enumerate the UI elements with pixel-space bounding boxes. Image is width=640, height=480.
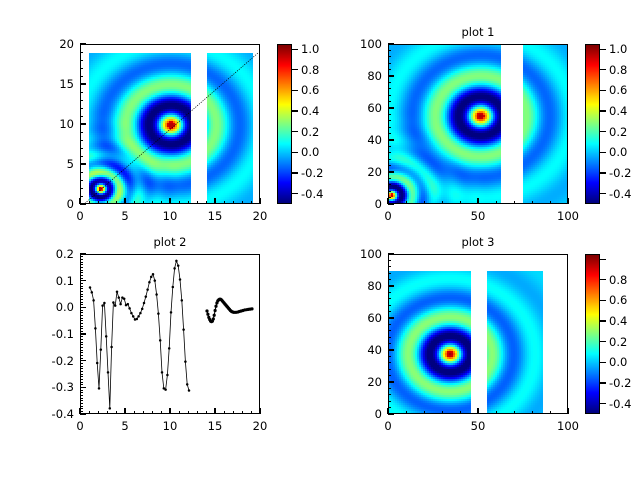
x-tick-label: 20 [238,210,282,222]
y-minor-tick [388,133,391,134]
y-minor-tick [80,339,83,340]
data-point-marker [184,360,187,363]
data-point-marker [170,311,173,314]
y-minor-tick [80,108,83,109]
y-minor-tick [80,259,83,260]
y-minor-tick [388,204,391,205]
x-minor-tick [170,201,171,204]
data-point-marker [96,362,99,365]
y-minor-tick [388,382,391,383]
y-minor-tick [80,334,83,335]
x-tick-label: 0 [366,210,410,222]
y-minor-tick [80,116,83,117]
colorbar-tick-label: 0.0 [301,146,343,158]
data-point-marker [205,309,208,312]
y-minor-tick [80,262,83,263]
y-minor-tick [388,159,391,160]
data-point-marker [101,304,104,307]
y-minor-tick [388,260,391,261]
y-minor-tick [80,60,83,61]
x-tick-label: 0 [366,420,410,432]
y-minor-tick [80,331,83,332]
data-point-marker [128,307,131,310]
x-minor-tick [550,201,551,204]
data-point-marker [179,278,182,281]
data-point-marker [139,312,142,315]
data-point-marker [159,339,162,342]
y-minor-tick [80,267,83,268]
colorbar-tick [600,362,606,363]
x-tick-label: 50 [456,210,500,222]
y-minor-tick [388,292,391,293]
x-minor-tick [406,411,407,414]
y-minor-tick [80,406,83,407]
y-minor-tick [388,273,391,274]
y-minor-tick [80,315,83,316]
colorbar-tick [600,382,606,383]
y-minor-tick [80,92,83,93]
data-point-marker [250,307,253,310]
data-point-marker [206,313,209,316]
y-minor-tick [388,330,391,331]
data-point-marker [116,291,119,294]
colorbar-tick [292,90,298,91]
y-minor-tick [80,100,83,101]
x-minor-tick [143,201,144,204]
heatmap-image-bottom [389,255,567,413]
y-tick-label: 0.1 [32,275,74,287]
colorbar-tick [600,279,606,280]
y-minor-tick [388,298,391,299]
y-minor-tick [388,394,391,395]
y-tick-label: 60 [340,102,382,114]
y-tick-label: 0 [340,408,382,420]
colorbar-tick [292,49,298,50]
data-point-marker [143,302,146,305]
colorbar-tick-label: -0.2 [609,377,640,389]
y-minor-tick [80,326,83,327]
y-minor-tick [388,337,391,338]
x-minor-tick [550,411,551,414]
y-minor-tick [388,114,391,115]
x-tick-label: 5 [103,210,147,222]
y-minor-tick [80,328,83,329]
y-minor-tick [388,286,391,287]
y-minor-tick [80,336,83,337]
y-minor-tick [80,376,83,377]
y-tick-label: 60 [340,312,382,324]
y-tick-label: 20 [340,376,382,388]
y-minor-tick [80,411,83,412]
y-tick-label: -0.3 [32,381,74,393]
figure-canvas: 0510152005101520 1.00.80.60.40.20.0-0.2-… [0,0,640,480]
data-point-marker [145,295,148,298]
x-tick-label: 5 [103,420,147,432]
y-minor-tick [388,178,391,179]
x-minor-tick [478,201,479,204]
y-minor-tick [80,296,83,297]
panel-top-right-title: plot 1 [388,26,568,39]
data-point-marker [92,299,95,302]
colorbar-tick-label: 0.2 [609,126,640,138]
x-tick-label: 15 [193,210,237,222]
y-minor-tick [388,197,391,198]
data-point-marker [181,299,184,302]
y-minor-tick [388,165,391,166]
x-minor-tick [496,201,497,204]
data-point-marker [112,301,115,304]
y-minor-tick [388,101,391,102]
x-minor-tick [568,201,569,204]
x-tick-label: 0 [58,210,102,222]
line-path-segment-1 [90,261,189,408]
x-minor-tick [179,411,180,414]
y-minor-tick [80,52,83,53]
colorbar-tick [600,172,606,173]
data-point-marker [214,309,217,312]
x-minor-tick [424,201,425,204]
y-minor-tick [388,407,391,408]
x-minor-tick [197,411,198,414]
y-minor-tick [80,302,83,303]
y-minor-tick [388,356,391,357]
panel-bottom-left-axes[interactable] [80,254,260,414]
x-tick-label: 15 [193,420,237,432]
x-minor-tick [532,411,533,414]
colorbar-tick-label: -0.4 [301,188,343,200]
y-minor-tick [80,414,83,415]
y-tick-label: 0 [340,198,382,210]
colorbar-tick-label: -0.2 [301,167,343,179]
colorbar-tick-label: 0.4 [301,105,343,117]
y-minor-tick [80,188,83,189]
y-minor-tick [80,84,83,85]
x-tick-label: 0 [58,420,102,432]
x-minor-tick [496,411,497,414]
x-tick-label: 10 [148,210,192,222]
colorbar-tick [600,90,606,91]
y-minor-tick [80,283,83,284]
x-minor-tick [206,411,207,414]
y-minor-tick [80,368,83,369]
y-minor-tick [388,375,391,376]
x-minor-tick [89,411,90,414]
x-tick-label: 10 [148,420,192,432]
y-minor-tick [80,310,83,311]
y-minor-tick [80,288,83,289]
data-point-marker [103,302,106,305]
x-tick-label: 100 [546,420,590,432]
data-point-marker [98,387,101,390]
colorbar-tick [600,259,606,260]
y-minor-tick [80,124,83,125]
x-minor-tick [442,201,443,204]
y-minor-tick [80,363,83,364]
y-tick-label: 15 [32,78,74,90]
data-point-marker [150,276,153,279]
x-minor-tick [134,201,135,204]
colorbar-tick [600,69,606,70]
y-minor-tick [80,270,83,271]
y-minor-tick [80,403,83,404]
y-minor-tick [80,304,83,305]
colorbar-tick [600,152,606,153]
y-minor-tick [80,384,83,385]
y-minor-tick [80,264,83,265]
x-minor-tick [514,201,515,204]
panel-bottom-right-colorbar [585,254,600,414]
data-point-marker [155,293,158,296]
x-minor-tick [233,201,234,204]
data-point-marker [109,407,112,410]
y-minor-tick [80,148,83,149]
x-tick-label: 50 [456,420,500,432]
data-point-marker [114,304,117,307]
x-minor-tick [188,201,189,204]
y-minor-tick [80,408,83,409]
x-minor-tick [215,411,216,414]
data-point-marker [175,260,178,263]
y-minor-tick [80,347,83,348]
panel-top-right-colorbar [585,44,600,204]
y-tick-label: -0.2 [32,355,74,367]
colorbar-tick [292,69,298,70]
y-minor-tick [80,278,83,279]
y-tick-label: 100 [340,38,382,50]
colorbar-tick [600,341,606,342]
x-minor-tick [188,411,189,414]
data-point-marker [186,383,189,386]
y-minor-tick [80,400,83,401]
y-minor-tick [80,294,83,295]
y-minor-tick [388,254,391,255]
x-minor-tick [424,411,425,414]
data-point-marker [107,371,110,374]
y-minor-tick [80,379,83,380]
heatmap-image-right [389,45,567,203]
data-point-marker [188,389,191,392]
y-minor-tick [80,398,83,399]
y-minor-tick [388,44,391,45]
data-point-marker [110,346,113,349]
x-minor-tick [233,411,234,414]
colorbar-tick [600,320,606,321]
y-minor-tick [80,272,83,273]
y-minor-tick [388,279,391,280]
y-minor-tick [80,323,83,324]
y-minor-tick [80,374,83,375]
y-minor-tick [388,305,391,306]
colorbar-tick [292,152,298,153]
y-minor-tick [388,140,391,141]
colorbar-tick-label: 0.0 [609,356,640,368]
y-minor-tick [80,390,83,391]
y-minor-tick [80,299,83,300]
y-minor-tick [80,291,83,292]
y-minor-tick [80,172,83,173]
line-series-plot [81,255,260,414]
colorbar-tick [600,131,606,132]
data-point-marker [141,308,144,311]
data-point-marker [127,303,130,306]
data-point-marker [118,296,121,299]
data-point-marker [132,315,135,318]
y-minor-tick [80,254,83,255]
y-minor-tick [388,82,391,83]
colorbar-tick-label: 0.6 [301,84,343,96]
data-point-marker [161,371,164,374]
data-point-marker [91,291,94,294]
colorbar-tick-label: 0.8 [301,64,343,76]
x-minor-tick [406,201,407,204]
data-point-marker [182,328,185,331]
x-minor-tick [478,411,479,414]
panel-bottom-right-axes[interactable] [388,254,568,414]
x-minor-tick [460,201,461,204]
data-point-marker [172,286,175,289]
y-tick-label: 0.2 [32,248,74,260]
y-minor-tick [388,152,391,153]
colorbar-tick-label: 0.8 [609,274,640,286]
y-minor-tick [388,95,391,96]
x-minor-tick [107,411,108,414]
y-minor-tick [388,108,391,109]
data-point-marker [212,317,215,320]
y-minor-tick [388,184,391,185]
colorbar-tick-label: 0.4 [609,315,640,327]
y-minor-tick [388,172,391,173]
y-minor-tick [80,350,83,351]
x-minor-tick [242,411,243,414]
x-tick-label: 20 [238,420,282,432]
colorbar-tick [292,131,298,132]
y-minor-tick [388,56,391,57]
y-minor-tick [388,120,391,121]
x-minor-tick [116,201,117,204]
colorbar-tick-label: -0.4 [609,398,640,410]
x-minor-tick [251,201,252,204]
y-minor-tick [80,256,83,257]
x-minor-tick [260,201,261,204]
y-minor-tick [388,266,391,267]
colorbar-tick [600,193,606,194]
data-point-marker [148,281,151,284]
x-minor-tick [125,201,126,204]
y-minor-tick [388,146,391,147]
y-minor-tick [80,392,83,393]
colorbar-tick-label: 0.4 [609,105,640,117]
colorbar-tick-label: 1.0 [609,43,640,55]
x-minor-tick [98,201,99,204]
x-minor-tick [134,411,135,414]
data-point-marker [164,388,167,391]
colorbar-tick [600,300,606,301]
y-tick-label: 40 [340,344,382,356]
y-minor-tick [388,318,391,319]
x-minor-tick [568,411,569,414]
data-point-marker [173,267,176,270]
panel-top-left-colorbar [277,44,292,204]
colorbar-tick [292,110,298,111]
y-minor-tick [388,401,391,402]
data-point-marker [123,297,126,300]
x-minor-tick [179,201,180,204]
x-tick-label: 100 [546,210,590,222]
x-minor-tick [514,411,515,414]
data-point-marker [94,327,97,330]
data-point-marker [152,273,155,276]
colorbar-tick-label: 1.0 [301,43,343,55]
colorbar-tick-label: 0.6 [609,84,640,96]
y-minor-tick [80,275,83,276]
colorbar-tick-label: 0.8 [609,64,640,76]
colorbar-tick [600,49,606,50]
data-point-marker [157,312,160,315]
x-minor-tick [152,411,153,414]
x-minor-tick [260,411,261,414]
y-minor-tick [388,369,391,370]
y-minor-tick [80,156,83,157]
y-minor-tick [80,355,83,356]
y-minor-tick [388,76,391,77]
x-minor-tick [224,411,225,414]
colorbar-tick [292,172,298,173]
x-minor-tick [442,411,443,414]
y-minor-tick [388,414,391,415]
y-minor-tick [80,344,83,345]
panel-top-left-axes[interactable] [80,44,260,204]
y-tick-label: 100 [340,248,382,260]
y-minor-tick [388,311,391,312]
y-minor-tick [80,360,83,361]
data-point-marker [89,286,92,289]
y-tick-label: -0.1 [32,328,74,340]
y-minor-tick [80,342,83,343]
data-point-marker [214,305,217,308]
y-minor-tick [80,286,83,287]
y-minor-tick [80,140,83,141]
y-minor-tick [80,164,83,165]
y-minor-tick [80,44,83,45]
data-point-marker [130,312,133,315]
y-minor-tick [80,371,83,372]
colorbar-tick-label: 0.0 [609,146,640,158]
data-point-marker [154,279,157,282]
x-minor-tick [143,411,144,414]
panel-bottom-right-title: plot 3 [388,236,568,249]
y-minor-tick [388,50,391,51]
heatmap-image-left [81,45,259,203]
panel-top-right-axes[interactable] [388,44,568,204]
y-minor-tick [80,196,83,197]
colorbar-tick [600,403,606,404]
x-minor-tick [170,411,171,414]
y-minor-tick [80,280,83,281]
x-minor-tick [116,411,117,414]
y-tick-label: 5 [32,158,74,170]
y-minor-tick [80,312,83,313]
data-point-marker [136,318,139,321]
colorbar-tick-label: 0.2 [609,336,640,348]
y-minor-tick [388,191,391,192]
data-point-marker [168,347,171,350]
data-point-marker [177,264,180,267]
x-minor-tick [89,201,90,204]
y-tick-label: 20 [340,166,382,178]
x-minor-tick [206,201,207,204]
y-minor-tick [80,307,83,308]
colorbar-tick [600,110,606,111]
